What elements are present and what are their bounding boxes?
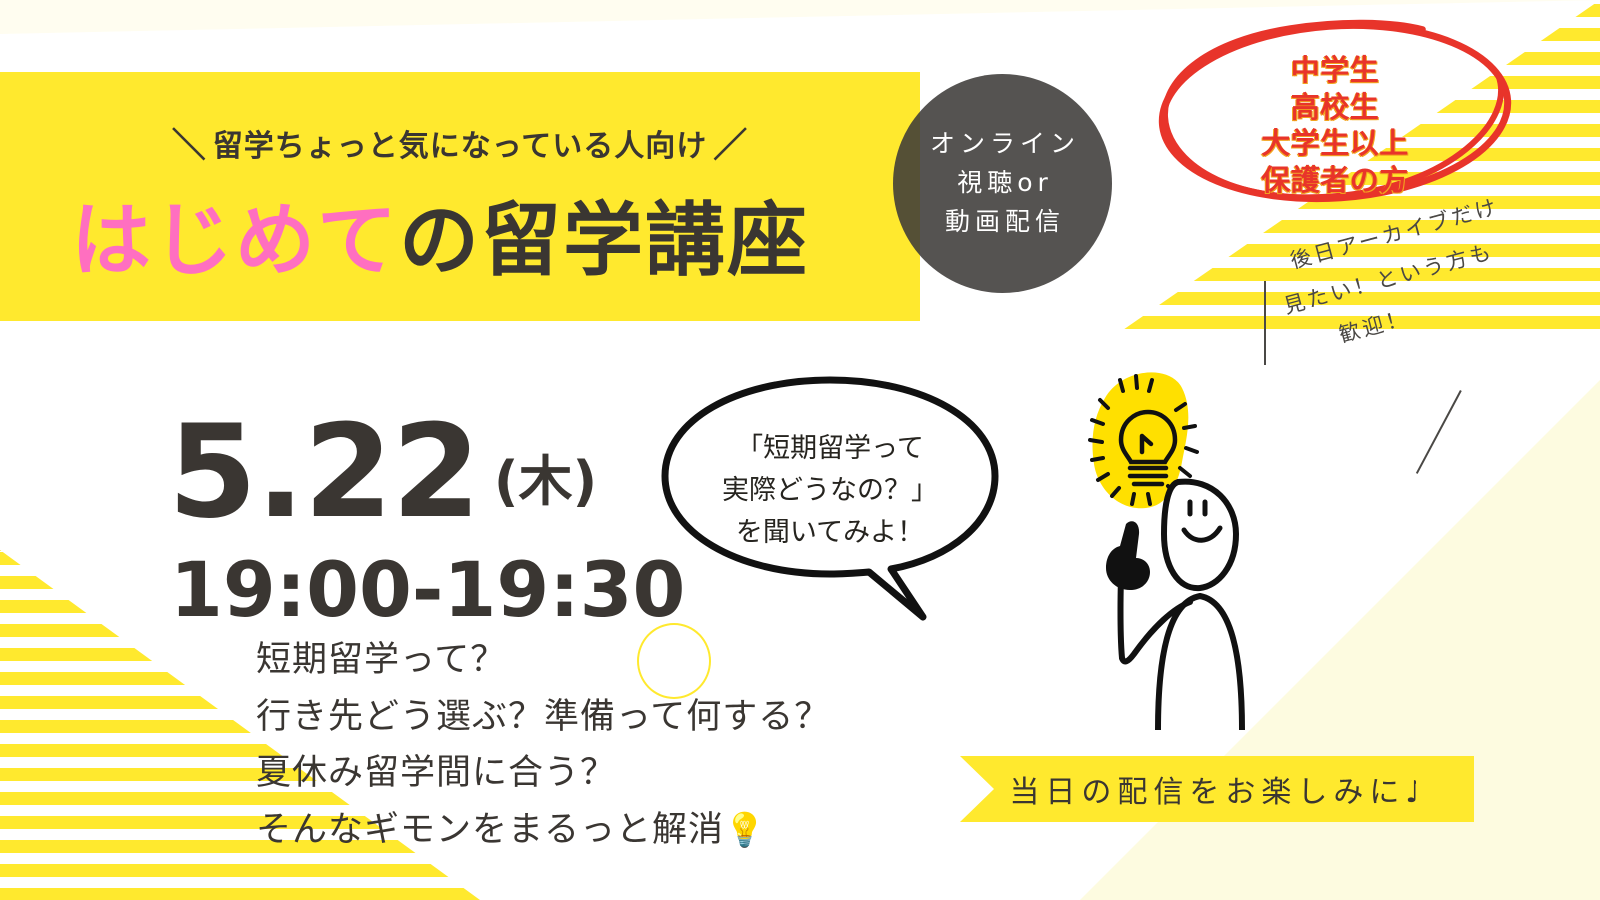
page-title-rest: の留学講座 bbox=[399, 194, 809, 287]
format-badge-line1: オンライン bbox=[925, 125, 1080, 164]
flyer-canvas: ＼ 留学ちょっと気になっている人向け ／ はじめての留学講座 オンライン 視聴o… bbox=[0, 0, 1600, 900]
target-line-3: 大学生以上 bbox=[1185, 125, 1485, 162]
topic-list: 短期留学って？ 行き先どう選ぶ？準備って何する？ 夏休み留学間に合う？ そんなギ… bbox=[256, 632, 830, 859]
topic-line-2: 行き先どう選ぶ？準備って何する？ bbox=[256, 689, 830, 746]
closing-ribbon: 当日の配信をお楽しみに♪ bbox=[960, 756, 1474, 822]
target-line-4: 保護者の方 bbox=[1185, 162, 1485, 199]
event-weekday: (木) bbox=[480, 437, 597, 532]
character-illustration bbox=[1050, 358, 1300, 730]
format-badge-line3: 動画配信 bbox=[940, 203, 1065, 242]
closing-ribbon-text: 当日の配信をお楽しみに♪ bbox=[960, 756, 1474, 822]
speech-bubble-text: 「短期留学って 実際どうなの？」 を聞いてみよ！ bbox=[655, 428, 1005, 554]
topic-line-1: 短期留学って？ bbox=[256, 632, 830, 689]
topic-line-4: そんなギモンをまるっと解消💡 bbox=[256, 802, 830, 859]
lightbulb-emoji-icon: 💡 bbox=[724, 810, 766, 849]
header-kicker: ＼ 留学ちょっと気になっている人向け ／ bbox=[0, 118, 920, 167]
page-title-highlight: はじめて bbox=[71, 194, 399, 287]
page-title: はじめての留学講座 bbox=[0, 176, 880, 292]
target-audience-text: 中学生 高校生 大学生以上 保護者の方 bbox=[1185, 52, 1485, 198]
target-line-2: 高校生 bbox=[1185, 89, 1485, 126]
bubble-line-3: を聞いてみよ！ bbox=[655, 512, 1005, 554]
bubble-line-1: 「短期留学って bbox=[655, 428, 1005, 470]
archive-note-rule-left bbox=[1264, 281, 1266, 365]
header-kicker-text: 留学ちょっと気になっている人向け bbox=[213, 121, 708, 165]
target-audience-callout: 中学生 高校生 大学生以上 保護者の方 bbox=[1185, 18, 1485, 208]
event-date-value: 5.22 bbox=[168, 414, 480, 532]
topic-line-3: 夏休み留学間に合う？ bbox=[256, 745, 830, 802]
target-line-1: 中学生 bbox=[1185, 52, 1485, 89]
format-badge: オンライン 視聴or 動画配信 bbox=[893, 74, 1112, 293]
speech-bubble: 「短期留学って 実際どうなの？」 を聞いてみよ！ bbox=[655, 372, 1005, 627]
format-badge-line2: 視聴or bbox=[952, 164, 1053, 203]
person-pointing-up-icon bbox=[1050, 358, 1300, 730]
bubble-line-2: 実際どうなの？」 bbox=[655, 470, 1005, 512]
event-time: 19:00-19:30 bbox=[170, 545, 685, 634]
topic-line-4-text: そんなギモンをまるっと解消 bbox=[256, 810, 724, 850]
slash-left-icon: ＼ bbox=[172, 118, 207, 167]
event-date: 5.22 (木) bbox=[168, 414, 597, 532]
slash-right-icon: ／ bbox=[713, 118, 748, 167]
